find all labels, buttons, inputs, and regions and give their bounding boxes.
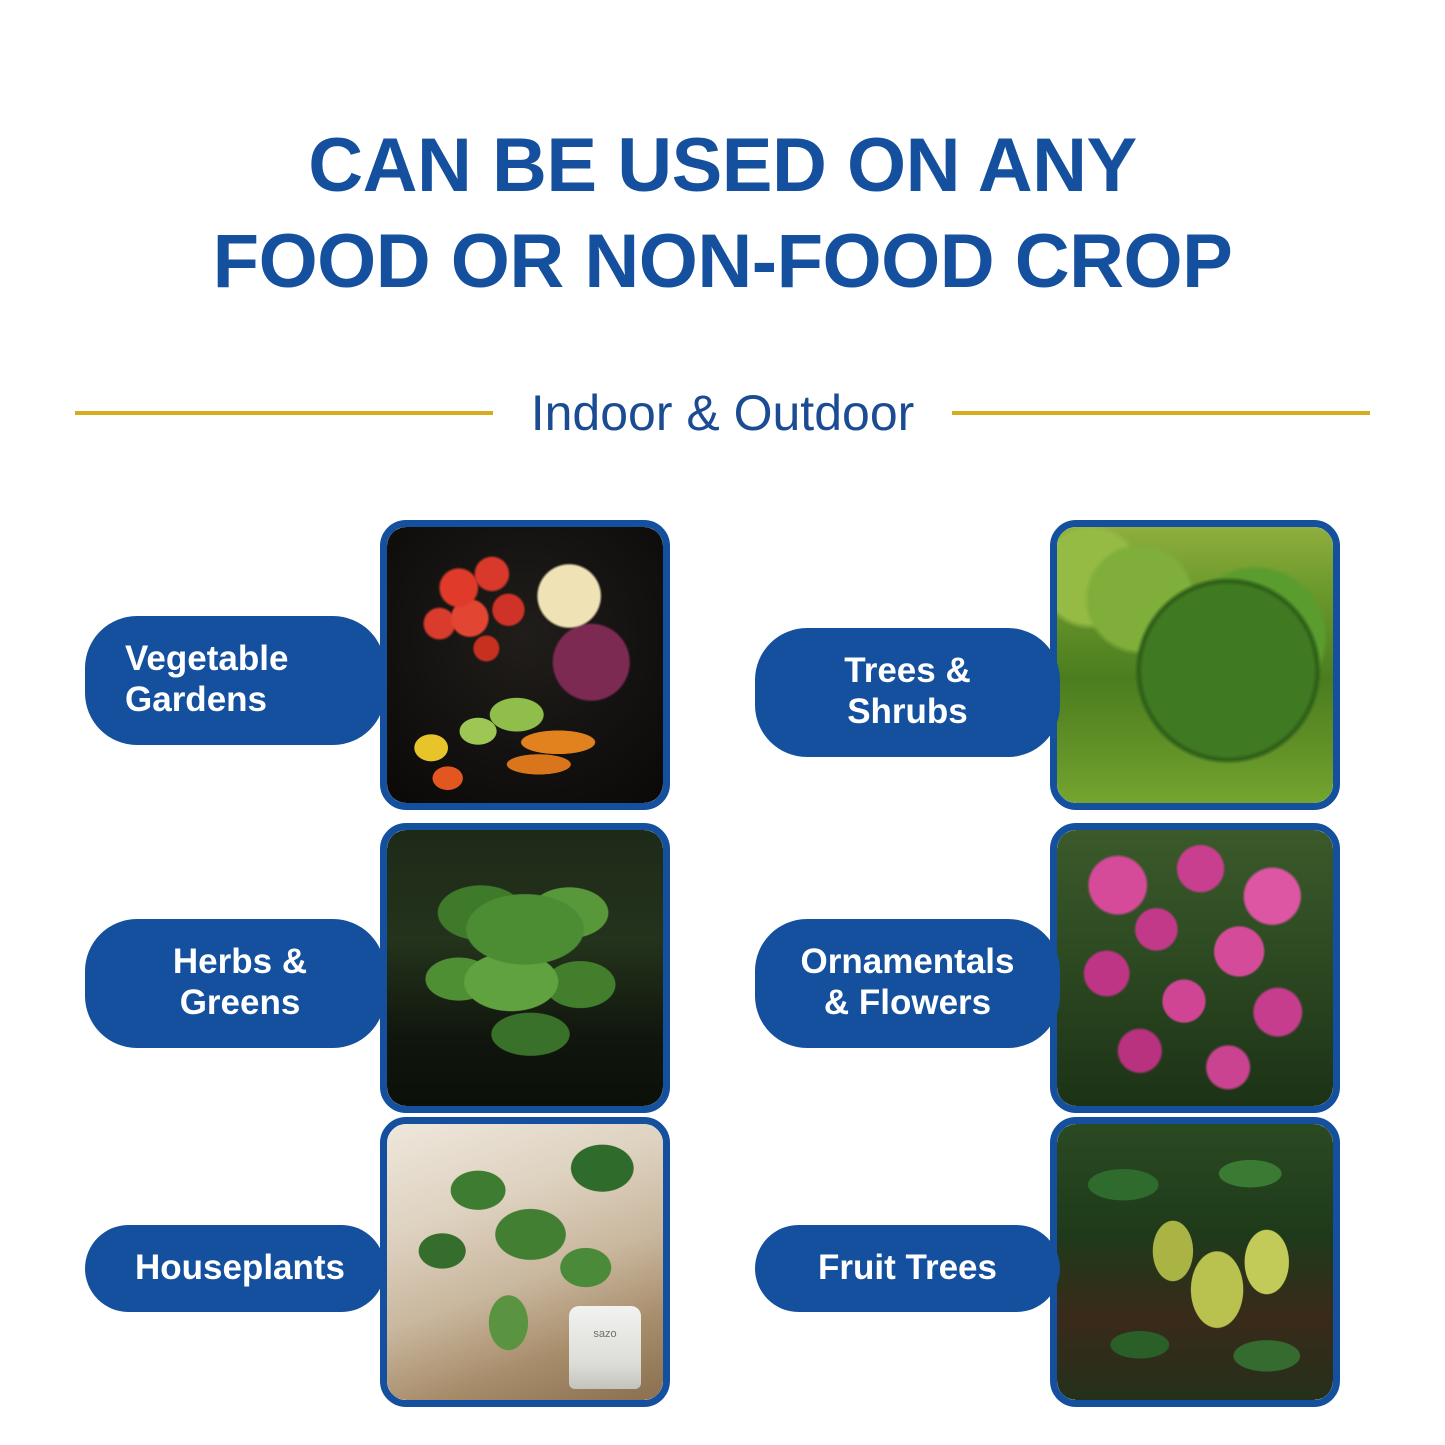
card-ornamentals-flowers: Ornamentals & Flowers: [755, 823, 1355, 1123]
label-houseplants: Houseplants: [85, 1225, 385, 1312]
flowers-image: [1057, 830, 1333, 1106]
label-line-2: & Flowers: [781, 982, 1034, 1023]
humidifier: sazo: [569, 1306, 641, 1389]
photo-vegetable-gardens: [380, 520, 670, 810]
label-line-1: Herbs &: [125, 941, 355, 982]
label-fruit-trees: Fruit Trees: [755, 1225, 1060, 1312]
headline-line-1: CAN BE USED ON ANY: [0, 118, 1445, 214]
photo-trees-shrubs: [1050, 520, 1340, 810]
label-line-2: Greens: [125, 982, 355, 1023]
label-line-1: Trees & Shrubs: [781, 650, 1034, 733]
headline-line-2: FOOD OR NON-FOOD CROP: [0, 214, 1445, 310]
label-line-1: Vegetable: [125, 638, 355, 679]
infographic-page: CAN BE USED ON ANY FOOD OR NON-FOOD CROP…: [0, 0, 1445, 1445]
label-ornamentals-flowers: Ornamentals & Flowers: [755, 919, 1060, 1048]
category-grid: Vegetable Gardens Trees & Shrubs Herbs &…: [0, 505, 1445, 1445]
label-line-1: Ornamentals: [781, 941, 1034, 982]
card-vegetable-gardens: Vegetable Gardens: [85, 520, 685, 820]
label-line-1: Houseplants: [125, 1247, 355, 1288]
subtitle-row: Indoor & Outdoor: [0, 388, 1445, 438]
shrub-image: [1057, 527, 1333, 803]
label-line-2: Gardens: [125, 679, 355, 720]
header: CAN BE USED ON ANY FOOD OR NON-FOOD CROP: [0, 118, 1445, 310]
photo-fruit-trees: [1050, 1117, 1340, 1407]
photo-houseplants: sazo: [380, 1117, 670, 1407]
card-trees-shrubs: Trees & Shrubs: [755, 520, 1355, 820]
houseplants-image: sazo: [387, 1124, 663, 1400]
card-houseplants: sazo Houseplants: [85, 1117, 685, 1417]
humidifier-brand-label: sazo: [569, 1328, 641, 1340]
gold-rule-right: [952, 411, 1370, 415]
label-herbs-greens: Herbs & Greens: [85, 919, 385, 1048]
vegetables-image: [387, 527, 663, 803]
label-vegetable-gardens: Vegetable Gardens: [85, 616, 385, 745]
label-line-1: Fruit Trees: [781, 1247, 1034, 1288]
fruit-trees-image: [1057, 1124, 1333, 1400]
page-title: CAN BE USED ON ANY FOOD OR NON-FOOD CROP: [0, 118, 1445, 310]
card-fruit-trees: Fruit Trees: [755, 1117, 1355, 1417]
label-trees-shrubs: Trees & Shrubs: [755, 628, 1060, 757]
photo-ornamentals-flowers: [1050, 823, 1340, 1113]
gold-rule-left: [75, 411, 493, 415]
subtitle: Indoor & Outdoor: [531, 388, 915, 438]
card-herbs-greens: Herbs & Greens: [85, 823, 685, 1123]
herbs-image: [387, 830, 663, 1106]
photo-herbs-greens: [380, 823, 670, 1113]
